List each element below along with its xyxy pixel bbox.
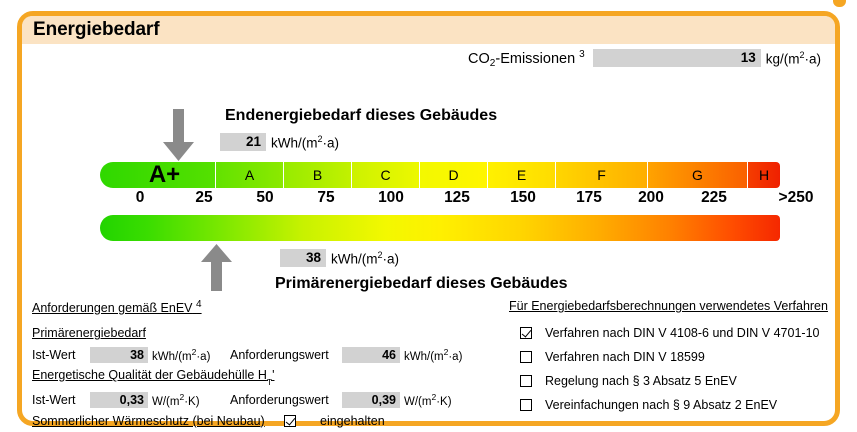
tick-175: 175 xyxy=(576,189,602,207)
tick-150: 150 xyxy=(510,189,536,207)
verfahren-option-paragraph-3[interactable]: Regelung nach § 3 Absatz 5 EnEV xyxy=(509,374,834,388)
energy-class-bar: A+ A B C D E F G H xyxy=(100,162,780,188)
gebaeudehuelle-subheading: Energetische Qualität der Gebäudehülle H… xyxy=(32,368,512,385)
tick-250: >250 xyxy=(779,189,814,207)
primaerenergiebedarf-marker-arrow-icon xyxy=(200,244,233,292)
verfahren-checkbox-paragraph-9[interactable] xyxy=(520,399,532,411)
verfahren-label-din-18599: Verfahren nach DIN V 18599 xyxy=(545,350,705,364)
page-title: Energiebedarf xyxy=(22,19,159,41)
huelle-anforderungswert-label: Anforderungswert xyxy=(230,393,342,407)
huelle-ist-wert-label: Ist-Wert xyxy=(32,393,90,407)
co2-unit: kg/(m2·a) xyxy=(766,50,821,67)
class-segment-a-plus: A+ xyxy=(100,162,216,188)
verfahren-option-paragraph-9[interactable]: Vereinfachungen nach § 9 Absatz 2 EnEV xyxy=(509,398,834,412)
anforderungswert-label: Anforderungswert xyxy=(230,348,342,362)
verfahren-label-paragraph-3: Regelung nach § 3 Absatz 5 EnEV xyxy=(545,374,737,388)
class-segment-b: B xyxy=(284,162,352,188)
tick-200: 200 xyxy=(638,189,664,207)
class-segment-c: C xyxy=(352,162,420,188)
tick-0: 0 xyxy=(136,189,145,207)
sommerlicher-waermeschutz-label: Sommerlicher Wärmeschutz (bei Neubau) xyxy=(32,414,284,428)
endenergiebedarf-marker-arrow-icon xyxy=(162,109,195,162)
sommerlicher-waermeschutz-row: Sommerlicher Wärmeschutz (bei Neubau) ei… xyxy=(32,414,512,428)
huelle-anforderungswert-value-box: 0,39 xyxy=(342,392,400,408)
anforderungen-heading: Anforderungen gemäß EnEV 4 xyxy=(32,299,512,315)
endenergiebedarf-value-group: 21 kWh/(m2·a) xyxy=(220,133,339,151)
huelle-ist-wert-value-box: 0,33 xyxy=(90,392,148,408)
verfahren-checkbox-paragraph-3[interactable] xyxy=(520,375,532,387)
anforderungen-footnote: 4 xyxy=(196,299,202,310)
huelle-anforderungswert-unit: W/(m2·K) xyxy=(404,392,452,408)
co2-footnote: 3 xyxy=(579,49,585,60)
tick-125: 125 xyxy=(444,189,470,207)
primaerenergiebedarf-label: Primärenergiebedarf dieses Gebäudes xyxy=(275,275,568,293)
gebaeudehuelle-values-row: Ist-Wert 0,33 W/(m2·K) Anforderungswert … xyxy=(32,392,512,408)
energy-gradient-bar xyxy=(100,215,780,241)
endenergiebedarf-label: Endenergiebedarf dieses Gebäudes xyxy=(225,107,497,125)
verfahren-checkbox-din-4108-6[interactable] xyxy=(520,327,532,339)
verfahren-label-din-4108-6: Verfahren nach DIN V 4108-6 und DIN V 47… xyxy=(545,326,819,340)
sommerlicher-waermeschutz-state: eingehalten xyxy=(320,414,385,428)
anforderungswert-unit: kWh/(m2·a) xyxy=(404,347,462,363)
top-orange-stub xyxy=(833,0,846,7)
class-segment-h: H xyxy=(748,162,780,188)
primaerenergiebedarf-value-box: 38 xyxy=(280,249,326,267)
verfahren-heading: Für Energiebedarfsberechnungen verwendet… xyxy=(509,299,834,313)
tick-25: 25 xyxy=(195,189,212,207)
verfahren-option-din-18599[interactable]: Verfahren nach DIN V 18599 xyxy=(509,350,834,364)
class-segment-g: G xyxy=(648,162,748,188)
anforderungen-column: Anforderungen gemäß EnEV 4 Primärenergie… xyxy=(32,299,512,428)
primaerenergiebedarf-unit: kWh/(m2·a) xyxy=(331,250,399,267)
ist-wert-label: Ist-Wert xyxy=(32,348,90,362)
co2-emissions-label: CO2-Emissionen 3 xyxy=(468,49,585,67)
anforderungswert-value-box: 46 xyxy=(342,347,400,363)
class-segment-f: F xyxy=(556,162,648,188)
energy-certificate-page: Energiebedarf CO2-Emissionen 3 13 kg/(m2… xyxy=(0,0,857,432)
co2-emissions-row: CO2-Emissionen 3 13 kg/(m2·a) xyxy=(22,49,835,67)
verfahren-option-din-4108-6[interactable]: Verfahren nach DIN V 4108-6 und DIN V 47… xyxy=(509,326,834,340)
sommerlicher-waermeschutz-checkbox[interactable] xyxy=(284,415,296,427)
primaerenergiebedarf-value-group: 38 kWh/(m2·a) xyxy=(280,249,399,267)
scale-tick-labels: 0 25 50 75 100 125 150 175 200 225 >250 xyxy=(100,189,800,211)
verfahren-label-paragraph-9: Vereinfachungen nach § 9 Absatz 2 EnEV xyxy=(545,398,777,412)
primaerenergie-values-row: Ist-Wert 38 kWh/(m2·a) Anforderungswert … xyxy=(32,347,512,363)
card-header: Energiebedarf xyxy=(22,16,835,44)
tick-75: 75 xyxy=(317,189,334,207)
ist-wert-unit: kWh/(m2·a) xyxy=(152,347,230,363)
verfahren-checkbox-din-18599[interactable] xyxy=(520,351,532,363)
endenergiebedarf-unit: kWh/(m2·a) xyxy=(271,134,339,151)
endenergiebedarf-value-box: 21 xyxy=(220,133,266,151)
class-segment-a: A xyxy=(216,162,284,188)
ist-wert-value-box: 38 xyxy=(90,347,148,363)
energiebedarf-card: Energiebedarf CO2-Emissionen 3 13 kg/(m2… xyxy=(17,11,840,426)
huelle-ist-wert-unit: W/(m2·K) xyxy=(152,392,230,408)
class-segment-e: E xyxy=(488,162,556,188)
verfahren-column: Für Energiebedarfsberechnungen verwendet… xyxy=(509,299,834,422)
tick-100: 100 xyxy=(378,189,404,207)
tick-50: 50 xyxy=(256,189,273,207)
primaerenergiebedarf-subheading: Primärenergiebedarf xyxy=(32,326,512,340)
tick-225: 225 xyxy=(701,189,727,207)
class-segment-d: D xyxy=(420,162,488,188)
bottom-section: Anforderungen gemäß EnEV 4 Primärenergie… xyxy=(22,299,835,424)
co2-value-box: 13 xyxy=(593,49,761,67)
